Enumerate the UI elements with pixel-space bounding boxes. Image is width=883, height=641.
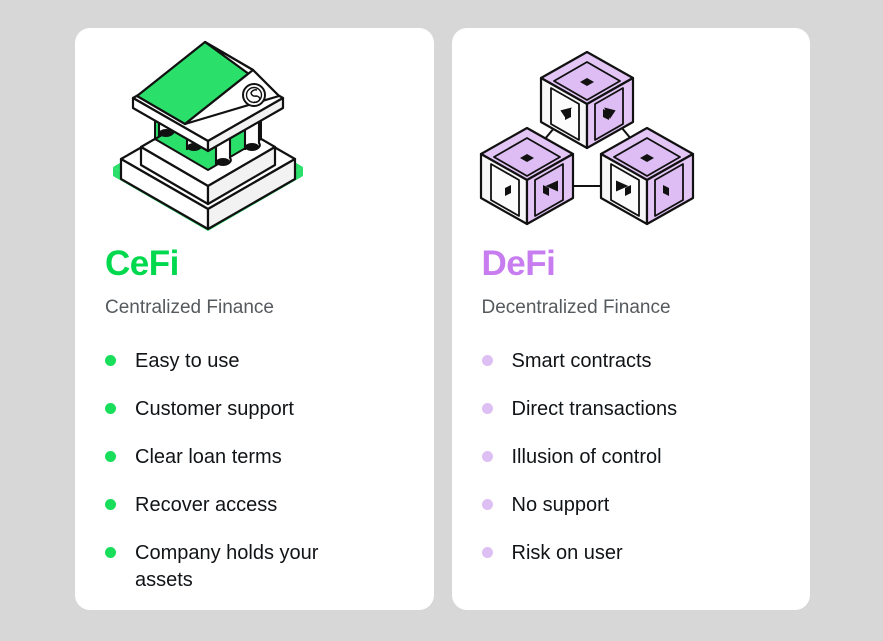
feature-label: Smart contracts: [512, 348, 652, 375]
bullet-dot-icon: [105, 499, 116, 510]
list-item: Customer support: [105, 396, 404, 423]
feature-list-cefi: Easy to use Customer support Clear loan …: [105, 348, 404, 594]
list-item: Illusion of control: [482, 444, 781, 471]
feature-label: Company holds your assets: [135, 540, 360, 594]
bullet-dot-icon: [105, 355, 116, 366]
bullet-dot-icon: [105, 451, 116, 462]
blockchain-cubes-icon: [472, 34, 702, 239]
page-title-cefi: CeFi: [105, 246, 404, 281]
feature-label: Direct transactions: [512, 396, 678, 423]
feature-label: Risk on user: [512, 540, 623, 567]
bullet-dot-icon: [482, 355, 493, 366]
list-item: Easy to use: [105, 348, 404, 375]
cube-bottom-left: [481, 128, 573, 224]
bullet-dot-icon: [105, 547, 116, 558]
list-item: Clear loan terms: [105, 444, 404, 471]
feature-label: Customer support: [135, 396, 294, 423]
bullet-dot-icon: [482, 547, 493, 558]
subtitle-defi: Decentralized Finance: [482, 297, 781, 320]
subtitle-cefi: Centralized Finance: [105, 297, 404, 320]
bullet-dot-icon: [482, 403, 493, 414]
list-item: Company holds your assets: [105, 540, 404, 594]
cefi-card-body: CeFi Centralized Finance Easy to use Cus…: [75, 246, 434, 594]
defi-illustration-container: [452, 28, 811, 246]
feature-list-defi: Smart contracts Direct transactions Illu…: [482, 348, 781, 567]
cefi-illustration-container: [75, 28, 434, 246]
bullet-dot-icon: [482, 451, 493, 462]
bullet-dot-icon: [482, 499, 493, 510]
comparison-board: CeFi Centralized Finance Easy to use Cus…: [0, 0, 883, 641]
feature-label: No support: [512, 492, 610, 519]
card-defi[interactable]: DeFi Decentralized Finance Smart contrac…: [452, 28, 811, 610]
list-item: No support: [482, 492, 781, 519]
list-item: Direct transactions: [482, 396, 781, 423]
card-cefi[interactable]: CeFi Centralized Finance Easy to use Cus…: [75, 28, 434, 610]
feature-label: Easy to use: [135, 348, 240, 375]
bullet-dot-icon: [105, 403, 116, 414]
cube-top: [541, 52, 633, 148]
list-item: Risk on user: [482, 540, 781, 567]
page-title-defi: DeFi: [482, 246, 781, 281]
defi-card-body: DeFi Decentralized Finance Smart contrac…: [452, 246, 811, 567]
feature-label: Clear loan terms: [135, 444, 282, 471]
feature-label: Illusion of control: [512, 444, 662, 471]
cube-bottom-right: [601, 128, 693, 224]
bank-building-icon: [93, 34, 323, 239]
list-item: Smart contracts: [482, 348, 781, 375]
list-item: Recover access: [105, 492, 404, 519]
feature-label: Recover access: [135, 492, 277, 519]
